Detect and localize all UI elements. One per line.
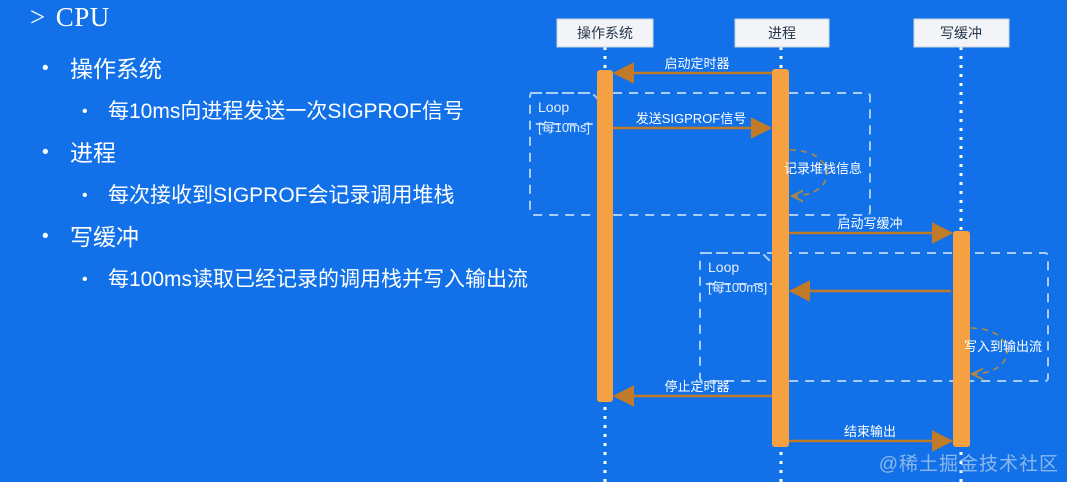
- outline-item-level2: • 每次接收到SIGPROF会记录调用堆栈: [30, 176, 530, 216]
- outline-item-label: 每10ms向进程发送一次SIGPROF信号: [108, 100, 464, 123]
- outline-list: • 操作系统 • 每10ms向进程发送一次SIGPROF信号 • 进程 • 每次…: [30, 50, 530, 302]
- activation-bar-proc: [772, 69, 789, 447]
- message-label-send-sigprof: 发送SIGPROF信号: [636, 111, 747, 126]
- outline-item-level2: • 每100ms读取已经记录的调用栈并写入输出流: [30, 260, 530, 300]
- bullet-glyph: •: [42, 50, 49, 88]
- message-label-end-output: 结束输出: [844, 424, 896, 439]
- page-title: >CPU: [30, 2, 110, 33]
- participant-label-wbuf: 写缓冲: [940, 25, 982, 41]
- outline-item-level1: • 操作系统: [30, 50, 530, 88]
- svg-text:[每100ms]: [每100ms]: [708, 280, 767, 295]
- outline-item-label: 操作系统: [70, 56, 162, 82]
- loop-fragment-100ms: Loop [每100ms]: [700, 253, 1048, 381]
- slide-text-pane: >CPU • 操作系统 • 每10ms向进程发送一次SIGPROF信号 • 进程…: [0, 0, 530, 482]
- bullet-glyph: •: [82, 92, 88, 132]
- bullet-glyph: •: [42, 218, 49, 256]
- outline-item-level1: • 进程: [30, 134, 530, 172]
- svg-text:Loop: Loop: [708, 259, 739, 275]
- outline-item-level2: • 每10ms向进程发送一次SIGPROF信号: [30, 92, 530, 132]
- participant-label-os: 操作系统: [577, 25, 633, 41]
- loop-kind-label: Loop: [538, 99, 569, 115]
- participant-proc[interactable]: 进程: [735, 19, 829, 47]
- title-marker: >: [30, 2, 46, 32]
- outline-item-label: 每次接收到SIGPROF会记录调用堆栈: [108, 184, 455, 207]
- title-text: CPU: [56, 2, 110, 32]
- activation-bar-os: [597, 70, 613, 402]
- participant-label-proc: 进程: [768, 25, 796, 41]
- participant-os[interactable]: 操作系统: [557, 19, 653, 47]
- participant-wbuf[interactable]: 写缓冲: [914, 19, 1009, 47]
- outline-item-level1: • 写缓冲: [30, 218, 530, 256]
- bullet-glyph: •: [82, 260, 88, 300]
- message-label-record-stack: 记录堆栈信息: [784, 161, 862, 176]
- bullet-glyph: •: [82, 176, 88, 216]
- message-label-write-output: 写入到输出流: [964, 339, 1042, 354]
- message-label-start-writebuffer: 启动写缓冲: [837, 216, 902, 231]
- sequence-diagram: Loop [每10ms] Loop [每100ms]: [520, 0, 1067, 482]
- message-label-start-timer: 启动定时器: [664, 56, 729, 71]
- outline-item-label: 每100ms读取已经记录的调用栈并写入输出流: [108, 268, 528, 291]
- outline-item-label: 写缓冲: [70, 224, 139, 250]
- sequence-diagram-canvas: Loop [每10ms] Loop [每100ms]: [520, 0, 1067, 482]
- svg-text:[每10ms]: [每10ms]: [538, 120, 590, 135]
- slide-root: >CPU • 操作系统 • 每10ms向进程发送一次SIGPROF信号 • 进程…: [0, 0, 1067, 482]
- message-label-stop-timer: 停止定时器: [664, 379, 729, 394]
- bullet-glyph: •: [42, 134, 49, 172]
- watermark: @稀土掘金技术社区: [879, 449, 1059, 476]
- outline-item-label: 进程: [70, 140, 116, 166]
